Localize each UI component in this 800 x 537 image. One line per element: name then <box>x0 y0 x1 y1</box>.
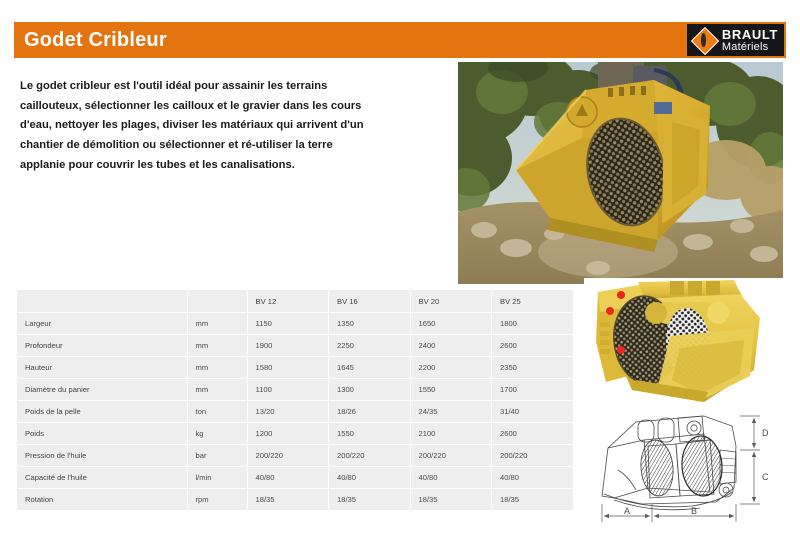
cell-diametre-bv12: 1100 <box>247 379 329 401</box>
table-row: Poids de la pelle ton 13/20 18/26 24/35 … <box>17 401 573 423</box>
row-label-largeur: Largeur <box>17 313 187 335</box>
cell-poids-bv20: 2100 <box>410 423 492 445</box>
cell-capacite-bv25: 40/80 <box>492 467 574 489</box>
cell-largeur-bv20: 1650 <box>410 313 492 335</box>
row-unit-largeur: mm <box>187 313 247 335</box>
header-model-bv20: BV 20 <box>410 290 492 313</box>
table-row: Rotation rpm 18/35 18/35 18/35 18/35 <box>17 489 573 511</box>
cell-profondeur-bv16: 2250 <box>329 335 411 357</box>
table-row: Largeur mm 1150 1350 1650 1800 <box>17 313 573 335</box>
cell-rotation-bv20: 18/35 <box>410 489 492 511</box>
cell-poids-bv25: 2600 <box>492 423 574 445</box>
cell-capacite-bv20: 40/80 <box>410 467 492 489</box>
cell-capacite-bv12: 40/80 <box>247 467 329 489</box>
table-row: Diamètre du panier mm 1100 1300 1550 170… <box>17 379 573 401</box>
header-blank-unit <box>187 290 247 313</box>
cell-poids-pelle-bv12: 13/20 <box>247 401 329 423</box>
cell-largeur-bv16: 1350 <box>329 313 411 335</box>
cell-profondeur-bv25: 2600 <box>492 335 574 357</box>
logo-brand-text: BRAULT <box>722 28 778 41</box>
row-unit-diametre-panier: mm <box>187 379 247 401</box>
row-label-profondeur: Profondeur <box>17 335 187 357</box>
cell-hauteur-bv25: 2350 <box>492 357 574 379</box>
dimension-label-c: C <box>762 472 769 482</box>
screening-bucket-3d-render <box>584 278 790 406</box>
header-blank-label <box>17 290 187 313</box>
cell-poids-bv16: 1550 <box>329 423 411 445</box>
cell-rotation-bv16: 18/35 <box>329 489 411 511</box>
cell-hauteur-bv16: 1645 <box>329 357 411 379</box>
row-label-capacite-huile: Capacité de l'huile <box>17 467 187 489</box>
row-label-poids-pelle: Poids de la pelle <box>17 401 187 423</box>
brault-logo: BRAULT Matériels <box>687 24 784 56</box>
row-unit-pression-huile: bar <box>187 445 247 467</box>
row-label-diametre-panier: Diamètre du panier <box>17 379 187 401</box>
brault-diamond-icon <box>691 27 717 53</box>
cell-rotation-bv25: 18/35 <box>492 489 574 511</box>
row-unit-poids: kg <box>187 423 247 445</box>
table-header-row: BV 12 BV 16 BV 20 BV 25 <box>17 290 573 313</box>
cell-hauteur-bv12: 1580 <box>247 357 329 379</box>
cell-poids-bv12: 1200 <box>247 423 329 445</box>
table-row: Poids kg 1200 1550 2100 2600 <box>17 423 573 445</box>
cell-pression-bv16: 200/220 <box>329 445 411 467</box>
cell-profondeur-bv20: 2400 <box>410 335 492 357</box>
specifications-table: BV 12 BV 16 BV 20 BV 25 Largeur mm 1150 … <box>17 290 573 510</box>
table-row: Hauteur mm 1580 1645 2200 2350 <box>17 357 573 379</box>
cell-hauteur-bv20: 2200 <box>410 357 492 379</box>
table-row: Capacité de l'huile l/min 40/80 40/80 40… <box>17 467 573 489</box>
header-model-bv25: BV 25 <box>492 290 574 313</box>
cell-pression-bv12: 200/220 <box>247 445 329 467</box>
cell-diametre-bv20: 1550 <box>410 379 492 401</box>
cell-largeur-bv25: 1800 <box>492 313 574 335</box>
row-label-pression-huile: Pression de l'huile <box>17 445 187 467</box>
table-row: Profondeur mm 1900 2250 2400 2600 <box>17 335 573 357</box>
row-unit-rotation: rpm <box>187 489 247 511</box>
cell-profondeur-bv12: 1900 <box>247 335 329 357</box>
dimension-label-a: A <box>624 506 630 516</box>
row-label-rotation: Rotation <box>17 489 187 511</box>
cell-pression-bv20: 200/220 <box>410 445 492 467</box>
screening-bucket-in-field-photo <box>458 62 783 284</box>
header-model-bv12: BV 12 <box>247 290 329 313</box>
screening-bucket-technical-drawing: D C A B <box>584 410 790 528</box>
row-unit-capacite-huile: l/min <box>187 467 247 489</box>
header-model-bv16: BV 16 <box>329 290 411 313</box>
row-label-poids: Poids <box>17 423 187 445</box>
cell-largeur-bv12: 1150 <box>247 313 329 335</box>
row-unit-hauteur: mm <box>187 357 247 379</box>
cell-diametre-bv25: 1700 <box>492 379 574 401</box>
cell-poids-pelle-bv25: 31/40 <box>492 401 574 423</box>
dimension-label-b: B <box>691 506 697 516</box>
cell-poids-pelle-bv20: 24/35 <box>410 401 492 423</box>
cell-poids-pelle-bv16: 18/26 <box>329 401 411 423</box>
cell-diametre-bv16: 1300 <box>329 379 411 401</box>
row-label-hauteur: Hauteur <box>17 357 187 379</box>
row-unit-poids-pelle: ton <box>187 401 247 423</box>
logo-sub-text: Matériels <box>722 42 778 53</box>
cell-rotation-bv12: 18/35 <box>247 489 329 511</box>
cell-capacite-bv16: 40/80 <box>329 467 411 489</box>
product-description: Le godet cribleur est l'outil idéal pour… <box>20 77 370 175</box>
cell-pression-bv25: 200/220 <box>492 445 574 467</box>
dimension-label-d: D <box>762 428 769 438</box>
page-header-bar: Godet Cribleur BRAULT Matériels <box>14 22 786 58</box>
table-row: Pression de l'huile bar 200/220 200/220 … <box>17 445 573 467</box>
row-unit-profondeur: mm <box>187 335 247 357</box>
page-title: Godet Cribleur <box>14 29 167 52</box>
